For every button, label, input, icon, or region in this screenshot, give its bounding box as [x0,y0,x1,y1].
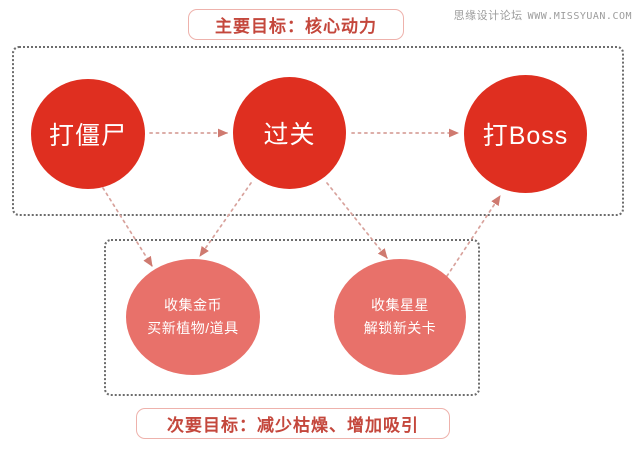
secondary-goal-label: 次要目标：减少枯燥、增加吸引 [136,408,450,439]
node-collect-coins[interactable]: 收集金币 买新植物/道具 [126,259,260,375]
node-zombie-label: 打僵尸 [49,116,127,152]
watermark-url: WWW.MISSYUAN.COM [528,11,632,22]
primary-goal-label: 主要目标：核心动力 [188,9,404,40]
watermark-site-name: 思缘设计论坛 [454,10,523,22]
node-zombie[interactable]: 打僵尸 [31,79,145,189]
node-boss[interactable]: 打Boss [464,75,587,193]
node-pass-label: 过关 [263,115,315,151]
node-boss-label: 打Boss [483,116,569,152]
node-collect-coins-line1: 收集金币 [164,294,222,317]
watermark: 思缘设计论坛WWW.MISSYUAN.COM [454,7,632,23]
node-collect-stars[interactable]: 收集星星 解锁新关卡 [334,259,466,375]
node-collect-coins-line2: 买新植物/道具 [147,317,238,340]
node-collect-stars-line1: 收集星星 [371,294,429,317]
node-pass[interactable]: 过关 [233,77,346,189]
diagram-canvas: 思缘设计论坛WWW.MISSYUAN.COM 打僵尸 过关 打Boss [0,0,640,455]
node-collect-stars-line2: 解锁新关卡 [364,317,437,340]
